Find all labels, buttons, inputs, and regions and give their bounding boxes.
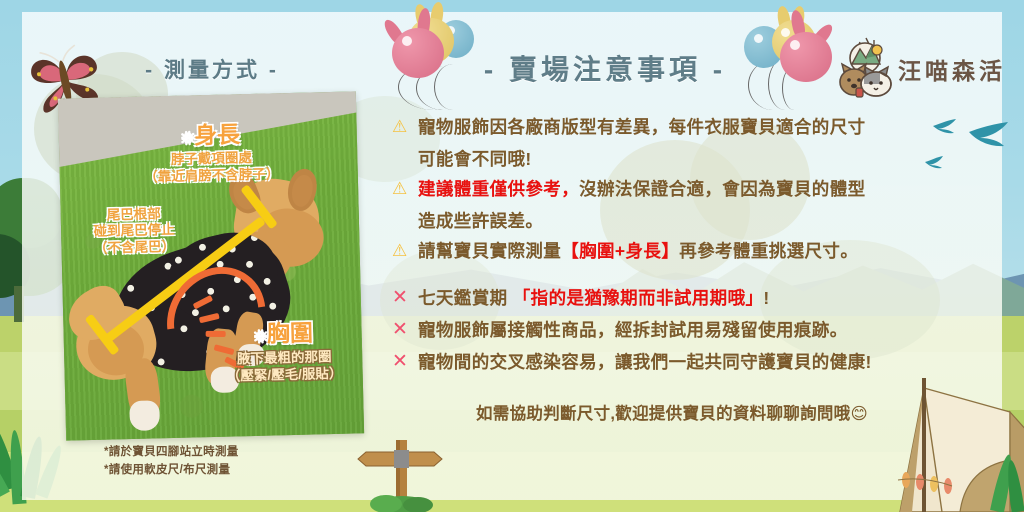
- swallow-icon: [968, 122, 1020, 152]
- warning-triangle-icon: ⚠: [392, 174, 418, 204]
- section-spacer: [392, 268, 952, 283]
- brand-logo: 汪喵森活: [836, 34, 1012, 106]
- dog-cat-mountain-logo-icon: [836, 34, 898, 102]
- pink-bunny-balloon: [392, 28, 444, 78]
- closing-message: 如需協助判斷尺寸,歡迎提供寶貝的資料聊聊詢問哦😊: [392, 400, 952, 424]
- notice-item: ⚠ 請幫寶貝實際測量【胸圍+身長】再參考體重挑選尺寸。: [392, 236, 952, 266]
- policy-item: ✕ 七天鑑賞期 「指的是猶豫期而非試用期哦」!: [392, 283, 952, 313]
- cross-icon: ✕: [392, 347, 418, 377]
- policy-item: ✕ 寵物間的交叉感染容易，讓我們一起共同守護寶貝的健康!: [392, 347, 952, 377]
- label-chest-girth: ✻胸圍 腋下最粗的那圈 （壓緊/壓毛/服貼）: [203, 317, 364, 385]
- notice-item: ⚠ 寵物服飾因各廠商版型有差異，每件衣服寶貝適合的尺寸: [392, 112, 952, 142]
- dog-measurement-photo: ✻身長 脖子戴項圈處 （靠近肩膀不含脖子） 尾巴根部 碰到尾巴停止 （不含尾巴）…: [58, 91, 364, 440]
- brand-name: 汪喵森活: [898, 52, 1006, 86]
- measurement-footnotes: *請於寶貝四腳站立時測量 *請使用軟皮尺/布尺測量: [104, 444, 239, 480]
- warning-triangle-icon: ⚠: [392, 236, 418, 266]
- highlight-text: 建議體重僅供參考，: [418, 179, 579, 199]
- measurement-method-title: - 測量方式 -: [78, 54, 346, 84]
- cross-icon: ✕: [392, 283, 418, 313]
- star-icon: ✻: [181, 130, 194, 147]
- highlight-text: 【胸圍+身長】: [561, 241, 679, 261]
- policy-item: ✕ 寵物服飾屬接觸性商品，經拆封試用易殘留使用痕跡。: [392, 315, 952, 345]
- warning-triangle-icon: ⚠: [392, 112, 418, 142]
- poster-canvas: 汪喵森活 - 測量方式 -: [0, 0, 1024, 512]
- pink-bunny-balloon: [780, 32, 832, 82]
- wooden-signpost-icon: [346, 432, 458, 512]
- notice-item-continuation: 造成些許誤差。: [392, 206, 952, 236]
- highlight-text: 「指的是猶豫期而非試用期哦」: [513, 288, 764, 308]
- cross-icon: ✕: [392, 315, 418, 345]
- notice-list: ⚠ 寵物服飾因各廠商版型有差異，每件衣服寶貝適合的尺寸 可能會不同哦! ⚠ 建議…: [392, 112, 952, 379]
- star-icon: ✻: [254, 329, 267, 346]
- balloon-cluster-right: [724, 2, 854, 112]
- shop-notice-title: - 賣場注意事項 -: [470, 48, 740, 88]
- notice-item-continuation: 可能會不同哦!: [392, 144, 952, 174]
- notice-item: ⚠ 建議體重僅供參考，沒辦法保證合適，會因為寶貝的體型: [392, 174, 952, 204]
- label-tail-base: 尾巴根部 碰到尾巴停止 （不含尾巴）: [59, 205, 210, 258]
- label-body-length: ✻身長 脖子戴項圈處 （靠近肩膀不含脖子）: [110, 119, 311, 187]
